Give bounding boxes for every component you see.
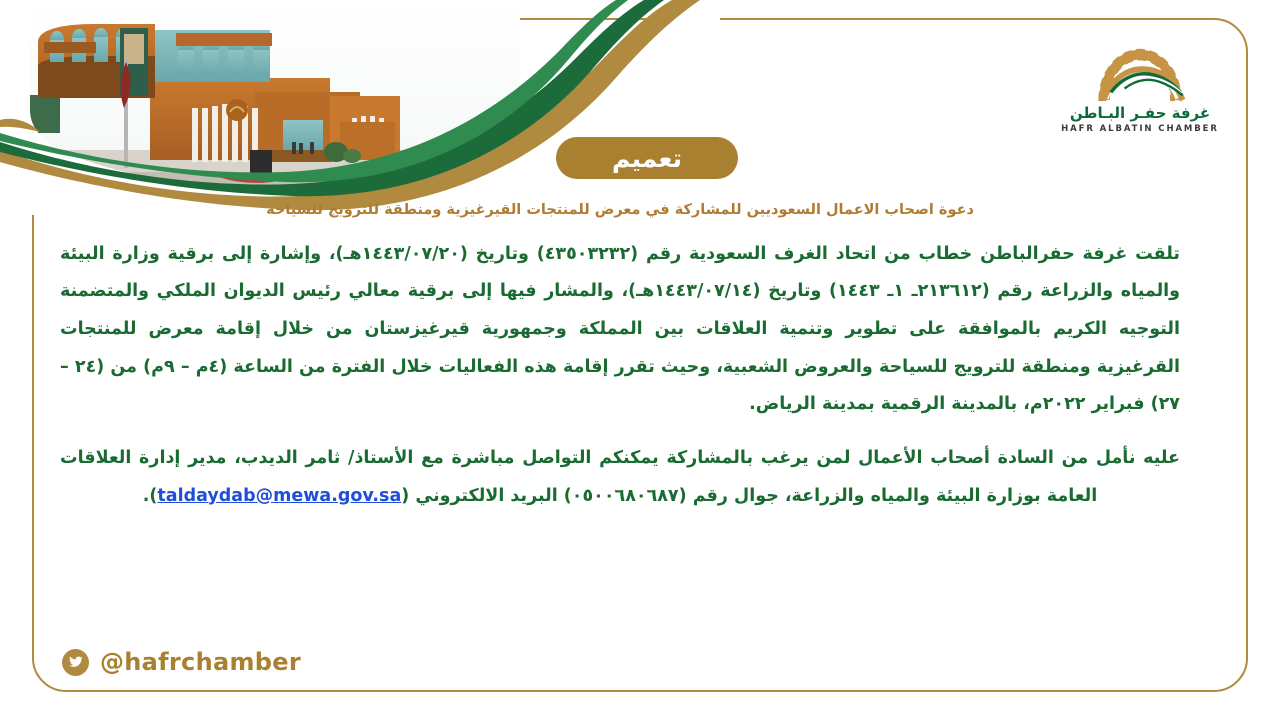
circular-title-badge: تعميم (556, 137, 738, 179)
twitter-handle[interactable]: @hafrchamber (100, 648, 301, 676)
paragraph-two: عليه نأمل من السادة أصحاب الأعمال لمن ير… (60, 440, 1180, 515)
social-footer: @hafrchamber (62, 648, 301, 676)
logo-english-name: HAFR ALBATIN CHAMBER (1060, 124, 1220, 134)
circular-page: غرفة حفـر البـاطن HAFR ALBATIN CHAMBER ت… (0, 0, 1280, 720)
header-swoosh-decoration (0, 0, 720, 215)
headline-text: دعوة اصحاب الاعمال السعوديين للمشاركة في… (60, 200, 1180, 222)
paragraph-two-after-email: ). (143, 486, 158, 506)
chamber-logo: غرفة حفـر البـاطن HAFR ALBATIN CHAMBER (1060, 42, 1220, 134)
gear-arc-icon (1081, 42, 1199, 104)
twitter-bird-icon[interactable] (62, 649, 89, 676)
contact-email-link[interactable]: taldaydab@mewa.gov.sa (157, 486, 401, 506)
paragraph-one: تلقت غرفة حفرالباطن خطاب من اتحاد الغرف … (60, 236, 1180, 424)
circular-title-text: تعميم (612, 146, 682, 171)
logo-arabic-name: غرفة حفـر البـاطن (1060, 105, 1220, 122)
circular-body: دعوة اصحاب الاعمال السعوديين للمشاركة في… (60, 200, 1180, 531)
